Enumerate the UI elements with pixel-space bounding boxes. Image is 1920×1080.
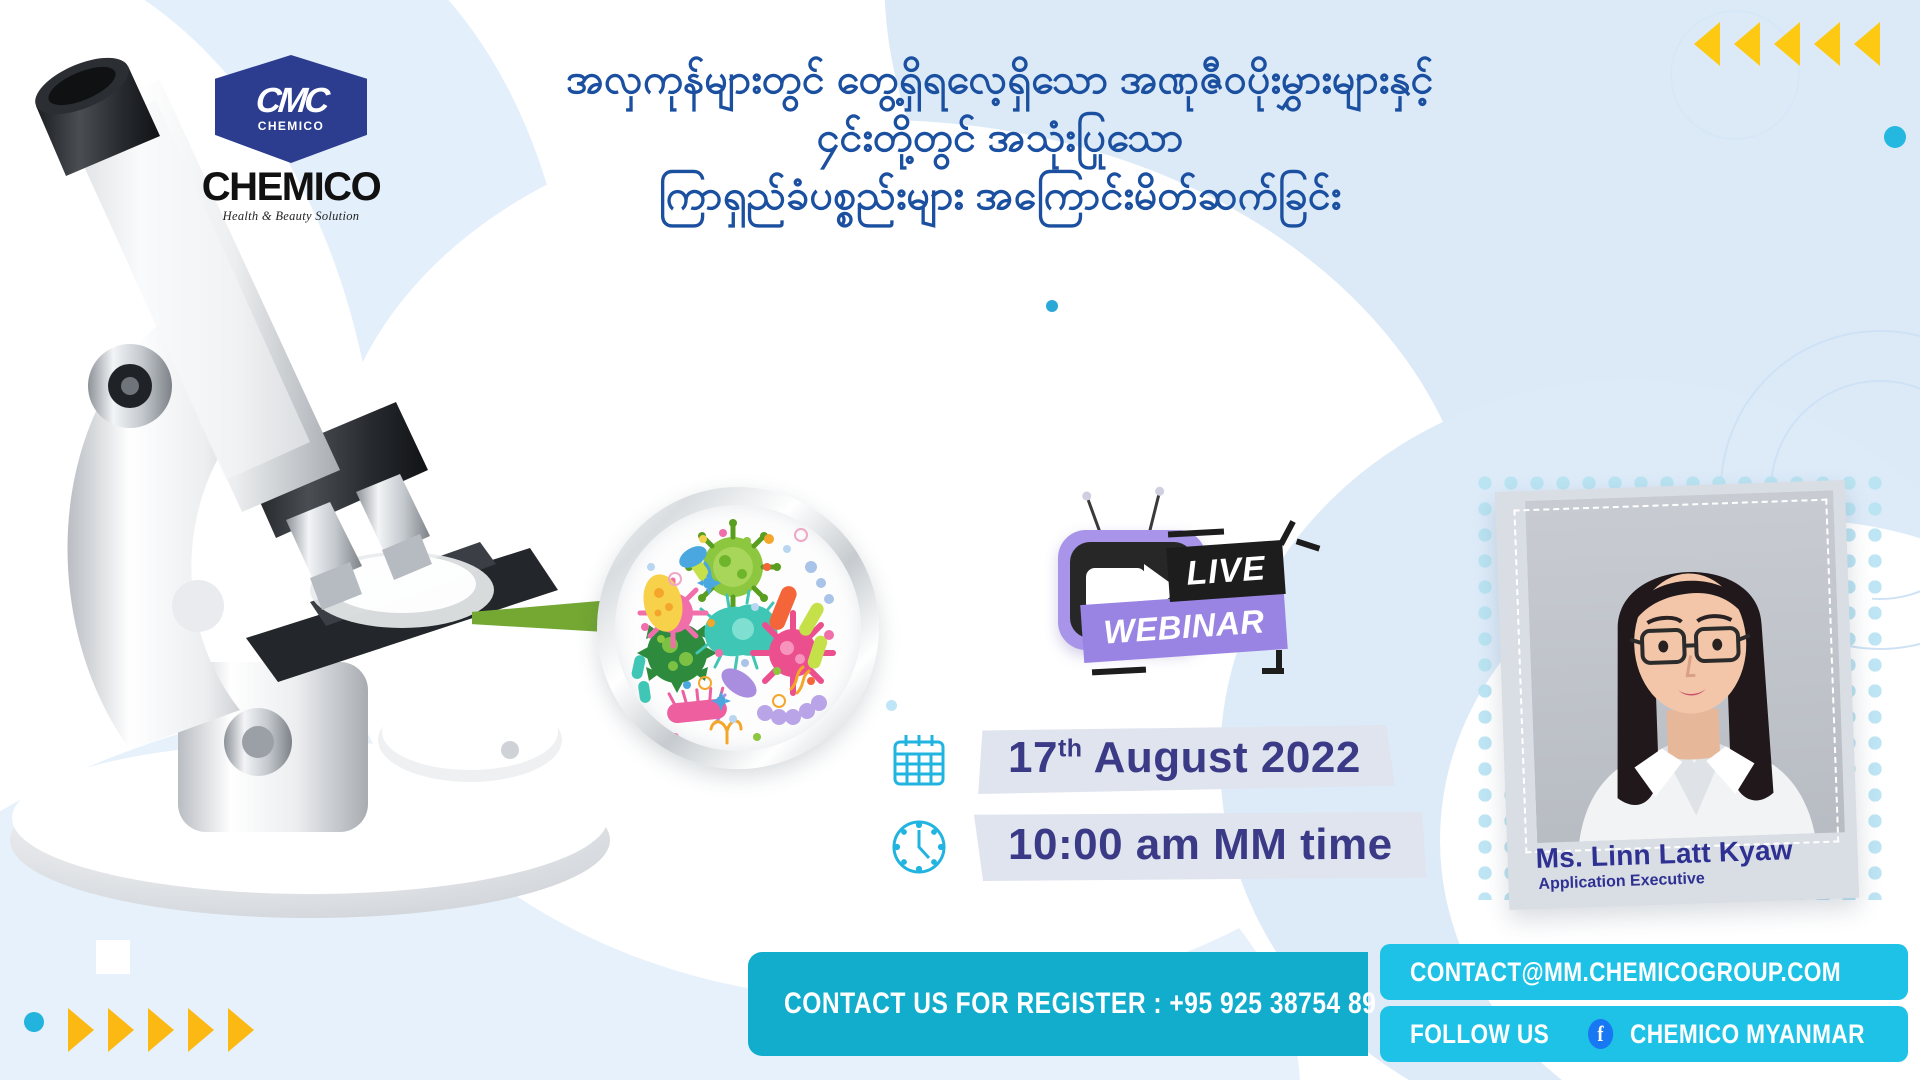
- decor-arrows-top-right: [1694, 22, 1880, 66]
- page-title: အလှကုန်များတွင် တွေ့ရှိရလေ့ရှိသော အဏုဇီဝ…: [330, 50, 1670, 225]
- calendar-icon: [890, 731, 948, 789]
- live-webinar-badge: WEBINAR LIVE: [1040, 490, 1320, 690]
- follow-label: FOLLOW US: [1410, 1019, 1549, 1050]
- spark-corner-2: [1262, 668, 1284, 674]
- register-label: CONTACT US FOR REGISTER : +95 925 38754 …: [784, 987, 1376, 1021]
- email-bar[interactable]: CONTACT@MM.CHEMICOGROUP.COM: [1380, 944, 1908, 1000]
- petri-dish-illustration: [597, 487, 879, 769]
- event-date-text: 17th August 2022: [1008, 733, 1361, 783]
- arrow-left-icon: [1814, 22, 1840, 66]
- live-label: LIVE: [1185, 549, 1267, 593]
- spark-line-4: [1092, 667, 1146, 676]
- decor-dot-2: [1046, 300, 1058, 312]
- footer-contact-bar: CONTACT US FOR REGISTER : +95 925 38754 …: [0, 940, 1920, 1080]
- email-text: CONTACT@MM.CHEMICOGROUP.COM: [1410, 957, 1841, 988]
- arrow-left-icon: [1774, 22, 1800, 66]
- logo-badge-sub: CHEMICO: [258, 119, 324, 133]
- event-time-row: 10:00 am MM time: [890, 812, 1427, 881]
- title-line-2: ၄င်းတို့တွင် အသုံးပြုသော: [330, 108, 1670, 166]
- event-time-text: 10:00 am MM time: [1008, 820, 1393, 870]
- speaker-card: Ms. Linn Latt Kyaw Application Executive: [1495, 480, 1859, 910]
- event-time-ribbon: 10:00 am MM time: [974, 812, 1427, 881]
- arrow-left-icon: [1694, 22, 1720, 66]
- facebook-icon[interactable]: f: [1588, 1019, 1613, 1049]
- live-label-tag: LIVE: [1166, 540, 1285, 602]
- petri-dish-culture: [615, 505, 861, 751]
- contact-bars: CONTACT@MM.CHEMICOGROUP.COM FOLLOW US f …: [1372, 944, 1908, 1068]
- register-bar[interactable]: CONTACT US FOR REGISTER : +95 925 38754 …: [748, 952, 1368, 1056]
- event-date-ordinal: th: [1058, 734, 1083, 762]
- spark-line-2: [1278, 520, 1296, 546]
- clock-icon: [890, 818, 948, 876]
- facebook-page-name: CHEMICO MYANMAR: [1630, 1019, 1865, 1050]
- follow-bar[interactable]: FOLLOW US f CHEMICO MYANMAR: [1380, 1006, 1908, 1062]
- spark-line-3: [1296, 538, 1321, 551]
- event-date-row: 17th August 2022: [890, 725, 1395, 794]
- arrow-left-icon: [1734, 22, 1760, 66]
- event-date-rest: August 2022: [1083, 733, 1361, 782]
- arrow-left-icon: [1854, 22, 1880, 66]
- logo-initials: CMC: [254, 85, 328, 117]
- decor-dot-4: [886, 700, 897, 711]
- decor-dot-1: [1884, 126, 1906, 148]
- title-line-1: အလှကုန်များတွင် တွေ့ရှိရလေ့ရှိသော အဏုဇီဝ…: [330, 50, 1670, 108]
- event-date-ribbon: 17th August 2022: [974, 725, 1395, 794]
- webinar-poster: + CMC CHEMICO CHEMICO Health & Beauty So…: [0, 0, 1920, 1080]
- speaker-photo: [1525, 490, 1845, 843]
- title-line-3: ကြာရှည်ခံပစ္စည်းများ အကြောင်းမိတ်ဆက်ခြင်…: [330, 166, 1670, 224]
- event-date-day: 17: [1008, 733, 1058, 782]
- webinar-label: WEBINAR: [1102, 602, 1265, 651]
